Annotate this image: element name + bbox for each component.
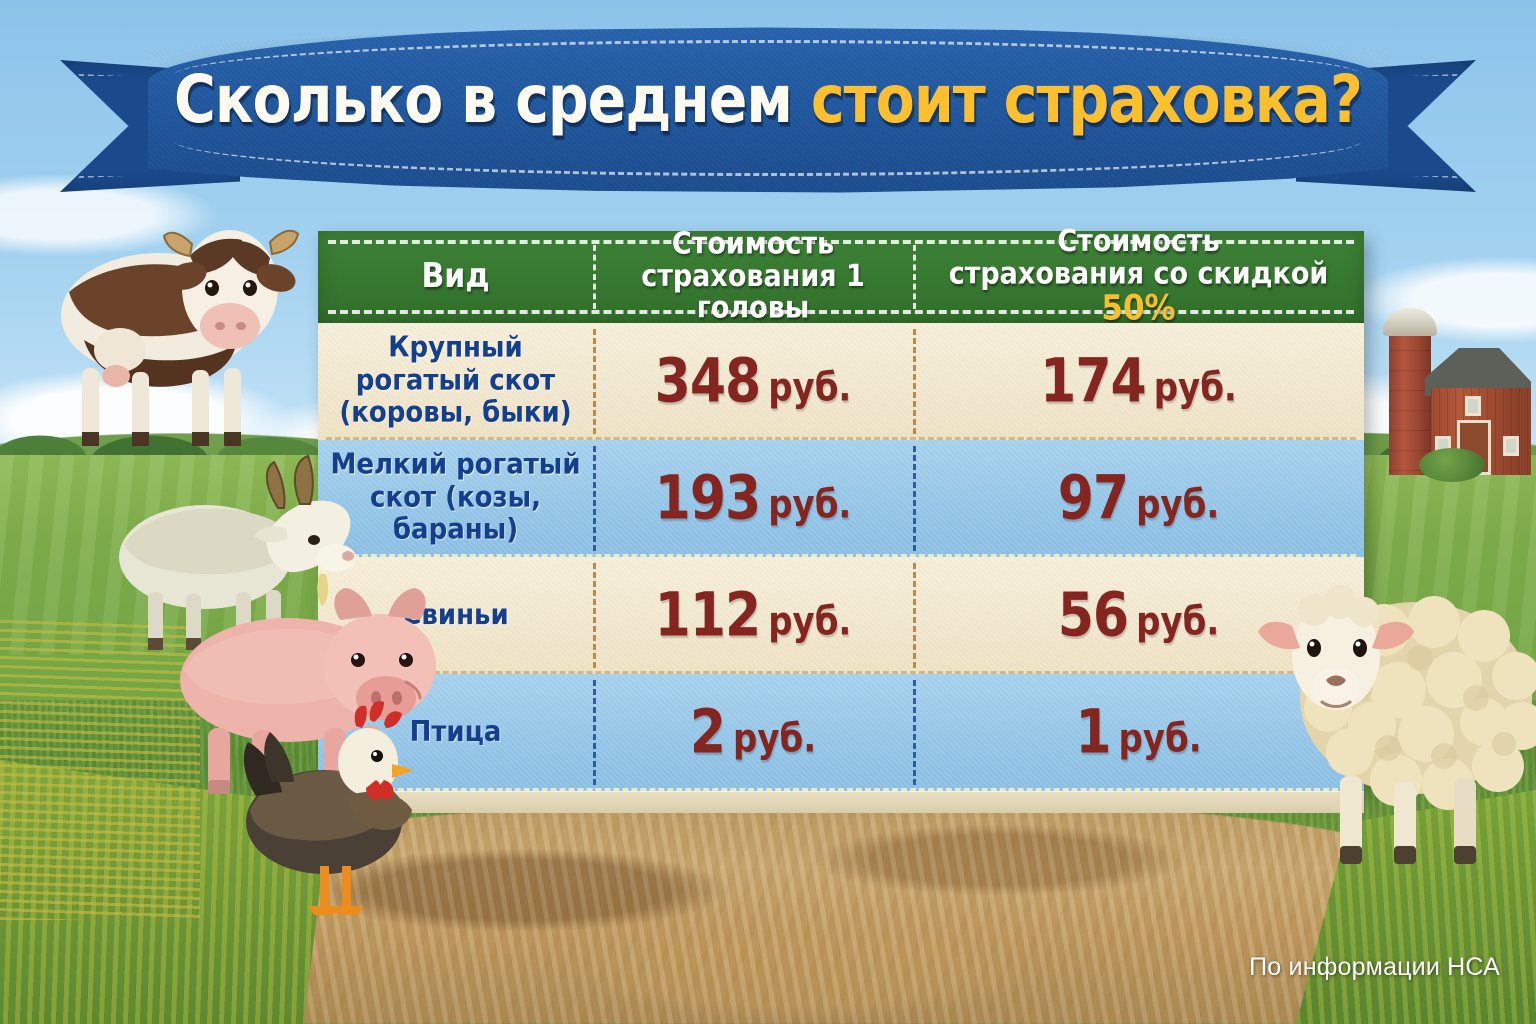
species-line1: Мелкий рогатый <box>324 450 587 483</box>
discount-number: 174 <box>1040 347 1146 417</box>
discount-unit: руб. <box>1136 599 1219 645</box>
title-ribbon: Сколько в среднем стоит страховка? <box>0 24 1536 204</box>
discount-unit: руб. <box>1136 482 1219 528</box>
sheep-illustration <box>1248 548 1536 878</box>
discount-price-value: 56руб. <box>1058 586 1220 646</box>
price-unit: руб. <box>768 365 851 411</box>
column-header-price-line2: страхования 1 головы <box>593 261 913 325</box>
barn-bush <box>1419 448 1485 482</box>
price-value: 193руб. <box>655 469 852 529</box>
rooster-illustration <box>236 700 436 930</box>
price-value: 2руб. <box>690 703 816 763</box>
column-header-species-label: Вид <box>421 259 489 295</box>
infographic-canvas: Сколько в среднем стоит страховка? Вид С… <box>0 0 1536 1024</box>
barn-illustration <box>1375 300 1535 475</box>
cell-price: 2руб. <box>593 674 913 791</box>
discount-price-value: 1руб. <box>1075 703 1201 763</box>
discount-price-value: 174руб. <box>1040 352 1237 412</box>
price-unit: руб. <box>768 599 851 645</box>
price-unit: руб. <box>768 482 851 528</box>
price-value: 112руб. <box>655 586 852 646</box>
page-title: Сколько в среднем стоит страховка? <box>0 67 1536 133</box>
table-header-row: Вид Стоимость страхования 1 головы Стоим… <box>318 231 1364 323</box>
source-credit: По информации НСА <box>1249 953 1500 982</box>
species-line2: скот (козы, бараны) <box>324 482 587 547</box>
cell-species: Крупный рогатый скот (коровы, быки) <box>318 317 593 446</box>
discount-number: 1 <box>1075 698 1110 768</box>
cell-price: 112руб. <box>593 557 913 674</box>
price-value: 348руб. <box>655 352 852 412</box>
column-header-discount-line2: страхования со скидкой <box>949 256 1329 291</box>
cell-price: 348руб. <box>593 323 913 440</box>
species-line1: Крупный рогатый скот <box>324 333 587 398</box>
page-title-white: Сколько в среднем <box>174 62 811 139</box>
price-number: 112 <box>655 581 761 651</box>
silo-bands <box>1389 330 1431 475</box>
barn-window-top <box>1465 396 1481 416</box>
silo-cap <box>1383 308 1437 336</box>
table-row: Свиньи 112руб. 56руб. <box>318 557 1364 674</box>
column-header-price: Стоимость страхования 1 головы <box>593 225 913 328</box>
species-line2: (коровы, быки) <box>324 398 587 431</box>
column-header-price-line1: Стоимость <box>593 229 913 261</box>
discount-price-value: 97руб. <box>1058 469 1220 529</box>
page-title-yellow: стоит страховка? <box>811 62 1362 139</box>
price-unit: руб. <box>733 716 816 762</box>
cell-discount-price: 97руб. <box>913 440 1364 557</box>
barn-window-right <box>1503 436 1519 456</box>
discount-unit: руб. <box>1119 716 1202 762</box>
cell-discount-price: 174руб. <box>913 323 1364 440</box>
discount-unit: руб. <box>1154 365 1237 411</box>
column-header-species: Вид <box>318 225 593 328</box>
discount-number: 97 <box>1058 464 1128 534</box>
price-number: 193 <box>655 464 761 534</box>
table-row: Птица 2руб. 1руб. <box>318 674 1364 791</box>
column-header-discount-line1: Стоимость <box>913 227 1364 259</box>
table-row: Крупный рогатый скот (коровы, быки) 348р… <box>318 323 1364 440</box>
insurance-cost-table: Вид Стоимость страхования 1 головы Стоим… <box>318 231 1364 791</box>
discount-number: 56 <box>1058 581 1128 651</box>
price-number: 348 <box>655 347 761 417</box>
column-header-discount: Стоимость страхования со скидкой 50% <box>913 225 1364 328</box>
table-row: Мелкий рогатый скот (козы, бараны) 193ру… <box>318 440 1364 557</box>
cell-price: 193руб. <box>593 440 913 557</box>
cow-illustration <box>24 200 304 470</box>
price-number: 2 <box>690 698 725 768</box>
